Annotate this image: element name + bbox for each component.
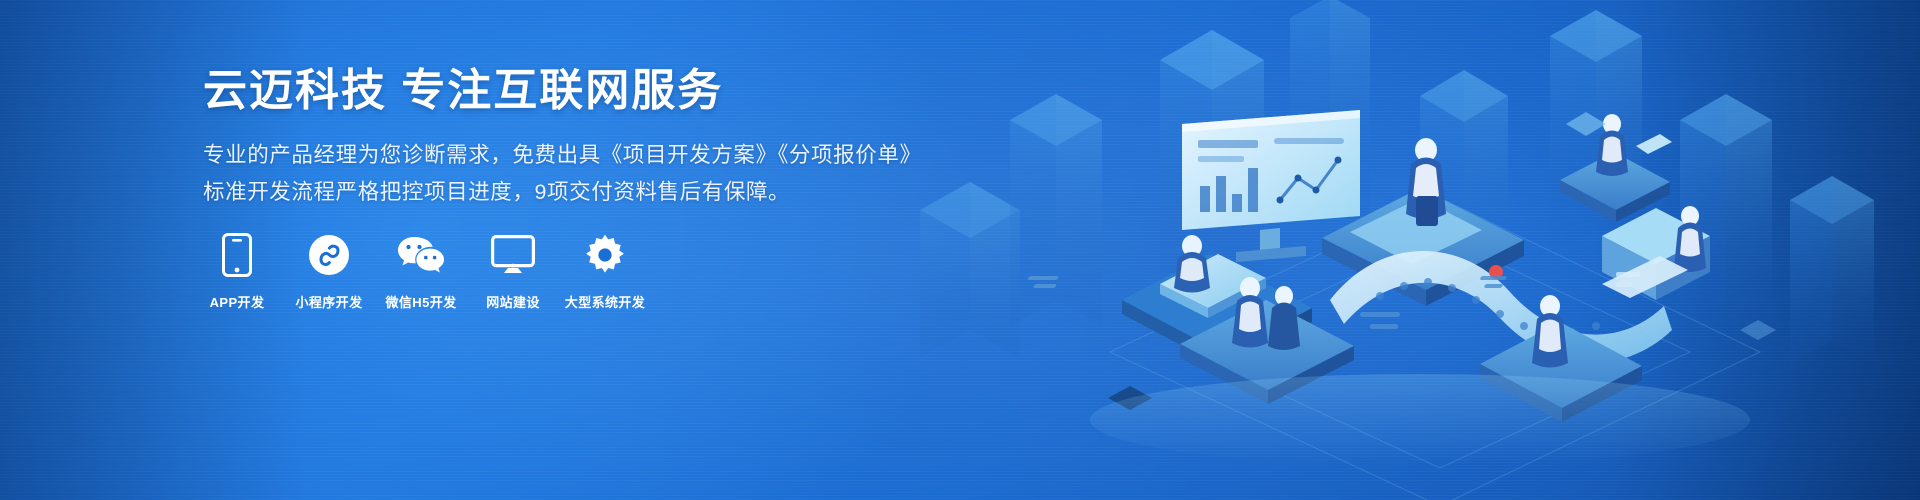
subtitle-line-1: 专业的产品经理为您诊断需求，免费出具《项目开发方案》《分项报价单》 [203, 137, 963, 174]
service-label: 小程序开发 [295, 292, 362, 311]
hero-subtitle: 专业的产品经理为您诊断需求，免费出具《项目开发方案》《分项报价单》 标准开发流程… [203, 137, 963, 211]
service-item-mini-program[interactable]: 小程序开发 [292, 232, 366, 311]
mobile-phone-icon [214, 232, 260, 278]
hero-banner: 云迈科技 专注互联网服务 专业的产品经理为您诊断需求，免费出具《项目开发方案》《… [0, 0, 1920, 500]
page-title: 云迈科技 专注互联网服务 [203, 66, 963, 115]
service-list: APP开发 小程序开发 [200, 232, 642, 311]
gear-icon [582, 232, 628, 278]
service-item-website[interactable]: 网站建设 [476, 232, 550, 311]
wechat-icon [398, 232, 444, 278]
service-label: 微信H5开发 [385, 292, 456, 311]
service-item-large-system[interactable]: 大型系统开发 [568, 232, 642, 311]
mini-program-icon [306, 232, 352, 278]
monitor-icon [490, 232, 536, 278]
service-label: 大型系统开发 [565, 292, 645, 311]
hero-copy: 云迈科技 专注互联网服务 专业的产品经理为您诊断需求，免费出具《项目开发方案》《… [203, 66, 963, 211]
service-label: APP开发 [210, 292, 265, 311]
service-label: 网站建设 [486, 292, 540, 311]
isometric-illustration [860, 0, 1920, 500]
service-item-wechat-h5[interactable]: 微信H5开发 [384, 232, 458, 311]
subtitle-line-2: 标准开发流程严格把控项目进度，9项交付资料售后有保障。 [203, 174, 963, 211]
service-item-app[interactable]: APP开发 [200, 232, 274, 311]
